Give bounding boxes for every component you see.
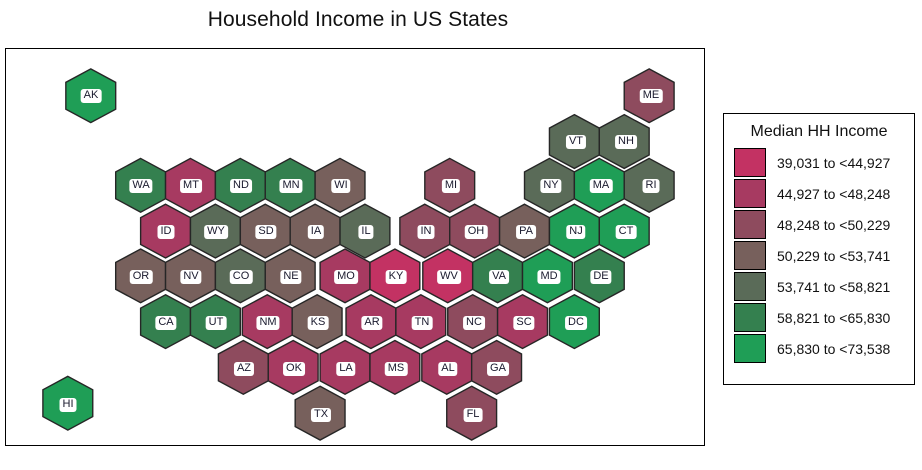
state-hex-in[interactable] bbox=[400, 204, 450, 258]
state-hex-md[interactable] bbox=[523, 249, 573, 303]
state-hex-dc[interactable] bbox=[549, 295, 599, 349]
state-hex-mn[interactable] bbox=[265, 158, 315, 212]
hex-cartogram bbox=[6, 49, 704, 445]
state-hex-ak[interactable] bbox=[66, 69, 116, 123]
state-hex-ne[interactable] bbox=[265, 249, 315, 303]
state-hex-az[interactable] bbox=[218, 341, 268, 395]
legend-label: 44,927 to <48,248 bbox=[777, 186, 890, 202]
legend-swatch bbox=[734, 241, 766, 270]
state-hex-ok[interactable] bbox=[268, 341, 318, 395]
legend-swatch bbox=[734, 210, 766, 239]
state-hex-nd[interactable] bbox=[215, 158, 265, 212]
state-hex-ma[interactable] bbox=[574, 158, 624, 212]
legend-label: 50,229 to <53,741 bbox=[777, 248, 890, 264]
legend-label: 39,031 to <44,927 bbox=[777, 155, 890, 171]
state-hex-nj[interactable] bbox=[549, 204, 599, 258]
legend-swatch bbox=[734, 272, 766, 301]
page-title: Household Income in US States bbox=[0, 8, 716, 32]
legend-row[interactable]: 44,927 to <48,248 bbox=[724, 178, 914, 209]
legend-row[interactable]: 65,830 to <73,538 bbox=[724, 333, 914, 364]
state-hex-ri[interactable] bbox=[624, 158, 674, 212]
state-hex-me[interactable] bbox=[624, 69, 674, 123]
state-hex-tx[interactable] bbox=[295, 386, 345, 440]
state-hex-ct[interactable] bbox=[599, 204, 649, 258]
legend-swatch bbox=[734, 334, 766, 363]
state-hex-la[interactable] bbox=[320, 341, 370, 395]
legend-label: 53,741 to <58,821 bbox=[777, 279, 890, 295]
state-hex-wy[interactable] bbox=[190, 204, 240, 258]
state-hex-ks[interactable] bbox=[292, 295, 342, 349]
state-hex-vt[interactable] bbox=[549, 115, 599, 169]
legend-row[interactable]: 50,229 to <53,741 bbox=[724, 240, 914, 271]
state-hex-hi[interactable] bbox=[43, 376, 93, 430]
state-hex-ia[interactable] bbox=[290, 204, 340, 258]
state-hex-ut[interactable] bbox=[190, 295, 240, 349]
legend-swatch bbox=[734, 303, 766, 332]
legend-swatch bbox=[734, 148, 766, 177]
state-hex-mi[interactable] bbox=[425, 158, 475, 212]
legend-row[interactable]: 58,821 to <65,830 bbox=[724, 302, 914, 333]
legend-row[interactable]: 53,741 to <58,821 bbox=[724, 271, 914, 302]
state-hex-nm[interactable] bbox=[242, 295, 292, 349]
map-plot-panel: AKMEVTNHWAMTNDMNWIMINYMARIIDWYSDIAILINOH… bbox=[5, 48, 705, 446]
legend-row[interactable]: 39,031 to <44,927 bbox=[724, 147, 914, 178]
state-hex-or[interactable] bbox=[116, 249, 166, 303]
state-hex-nh[interactable] bbox=[599, 115, 649, 169]
legend-swatch bbox=[734, 179, 766, 208]
state-hex-wi[interactable] bbox=[315, 158, 365, 212]
legend-rows: 39,031 to <44,92744,927 to <48,24848,248… bbox=[724, 147, 914, 364]
state-hex-pa[interactable] bbox=[500, 204, 550, 258]
state-hex-va[interactable] bbox=[473, 249, 523, 303]
state-hex-ca[interactable] bbox=[141, 295, 191, 349]
state-hex-tn[interactable] bbox=[396, 295, 446, 349]
state-hex-wv[interactable] bbox=[423, 249, 473, 303]
state-hex-ms[interactable] bbox=[370, 341, 420, 395]
state-hex-co[interactable] bbox=[215, 249, 265, 303]
state-hex-nv[interactable] bbox=[166, 249, 216, 303]
state-hex-ar[interactable] bbox=[346, 295, 396, 349]
state-hex-sc[interactable] bbox=[498, 295, 548, 349]
state-hex-nc[interactable] bbox=[448, 295, 498, 349]
legend-label: 65,830 to <73,538 bbox=[777, 341, 890, 357]
legend-row[interactable]: 48,248 to <50,229 bbox=[724, 209, 914, 240]
state-hex-wa[interactable] bbox=[116, 158, 166, 212]
legend-label: 48,248 to <50,229 bbox=[777, 217, 890, 233]
state-hex-id[interactable] bbox=[141, 204, 191, 258]
state-hex-ny[interactable] bbox=[525, 158, 575, 212]
state-hex-fl[interactable] bbox=[447, 386, 497, 440]
state-hex-mt[interactable] bbox=[166, 158, 216, 212]
legend-panel: Median HH Income 39,031 to <44,92744,927… bbox=[723, 113, 915, 385]
state-hex-oh[interactable] bbox=[450, 204, 500, 258]
legend-label: 58,821 to <65,830 bbox=[777, 310, 890, 326]
state-hex-al[interactable] bbox=[422, 341, 472, 395]
state-hex-ga[interactable] bbox=[472, 341, 522, 395]
state-hex-sd[interactable] bbox=[240, 204, 290, 258]
legend-title: Median HH Income bbox=[724, 123, 914, 141]
state-hex-ky[interactable] bbox=[370, 249, 420, 303]
state-hex-de[interactable] bbox=[574, 249, 624, 303]
